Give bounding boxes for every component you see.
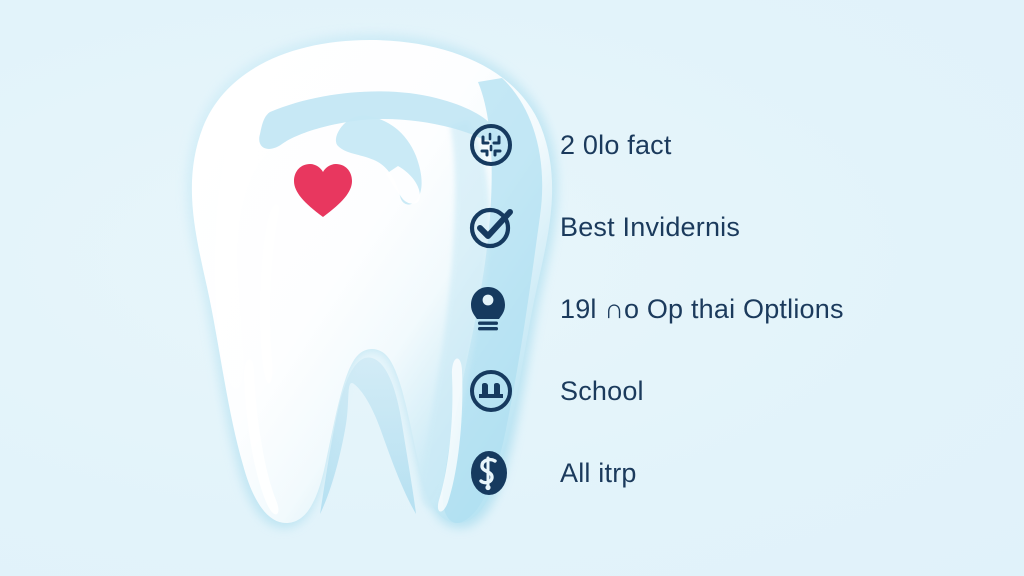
check-circle-icon	[468, 204, 524, 250]
s-badge-icon	[468, 450, 524, 496]
feature-label: School	[560, 378, 644, 405]
feature-label: All itrp	[560, 460, 637, 487]
feature-item[interactable]: Best Invidernis	[468, 186, 988, 268]
clock-face-icon	[468, 122, 524, 168]
feature-item[interactable]: All itrp	[468, 432, 988, 514]
school-bench-icon	[468, 368, 524, 414]
feature-item[interactable]: 19l ∩o Op thai Optlions	[468, 268, 988, 350]
poster-canvas: 2 0lo fact Best Invidernis	[0, 0, 1024, 576]
feature-label: 19l ∩o Op thai Optlions	[560, 296, 844, 323]
feature-item[interactable]: 2 0lo fact	[468, 104, 988, 186]
heart-icon	[292, 162, 354, 220]
lightbulb-icon	[468, 286, 524, 332]
feature-item[interactable]: School	[468, 350, 988, 432]
feature-label: Best Invidernis	[560, 214, 740, 241]
feature-list: 2 0lo fact Best Invidernis	[468, 104, 988, 514]
feature-label: 2 0lo fact	[560, 132, 672, 159]
